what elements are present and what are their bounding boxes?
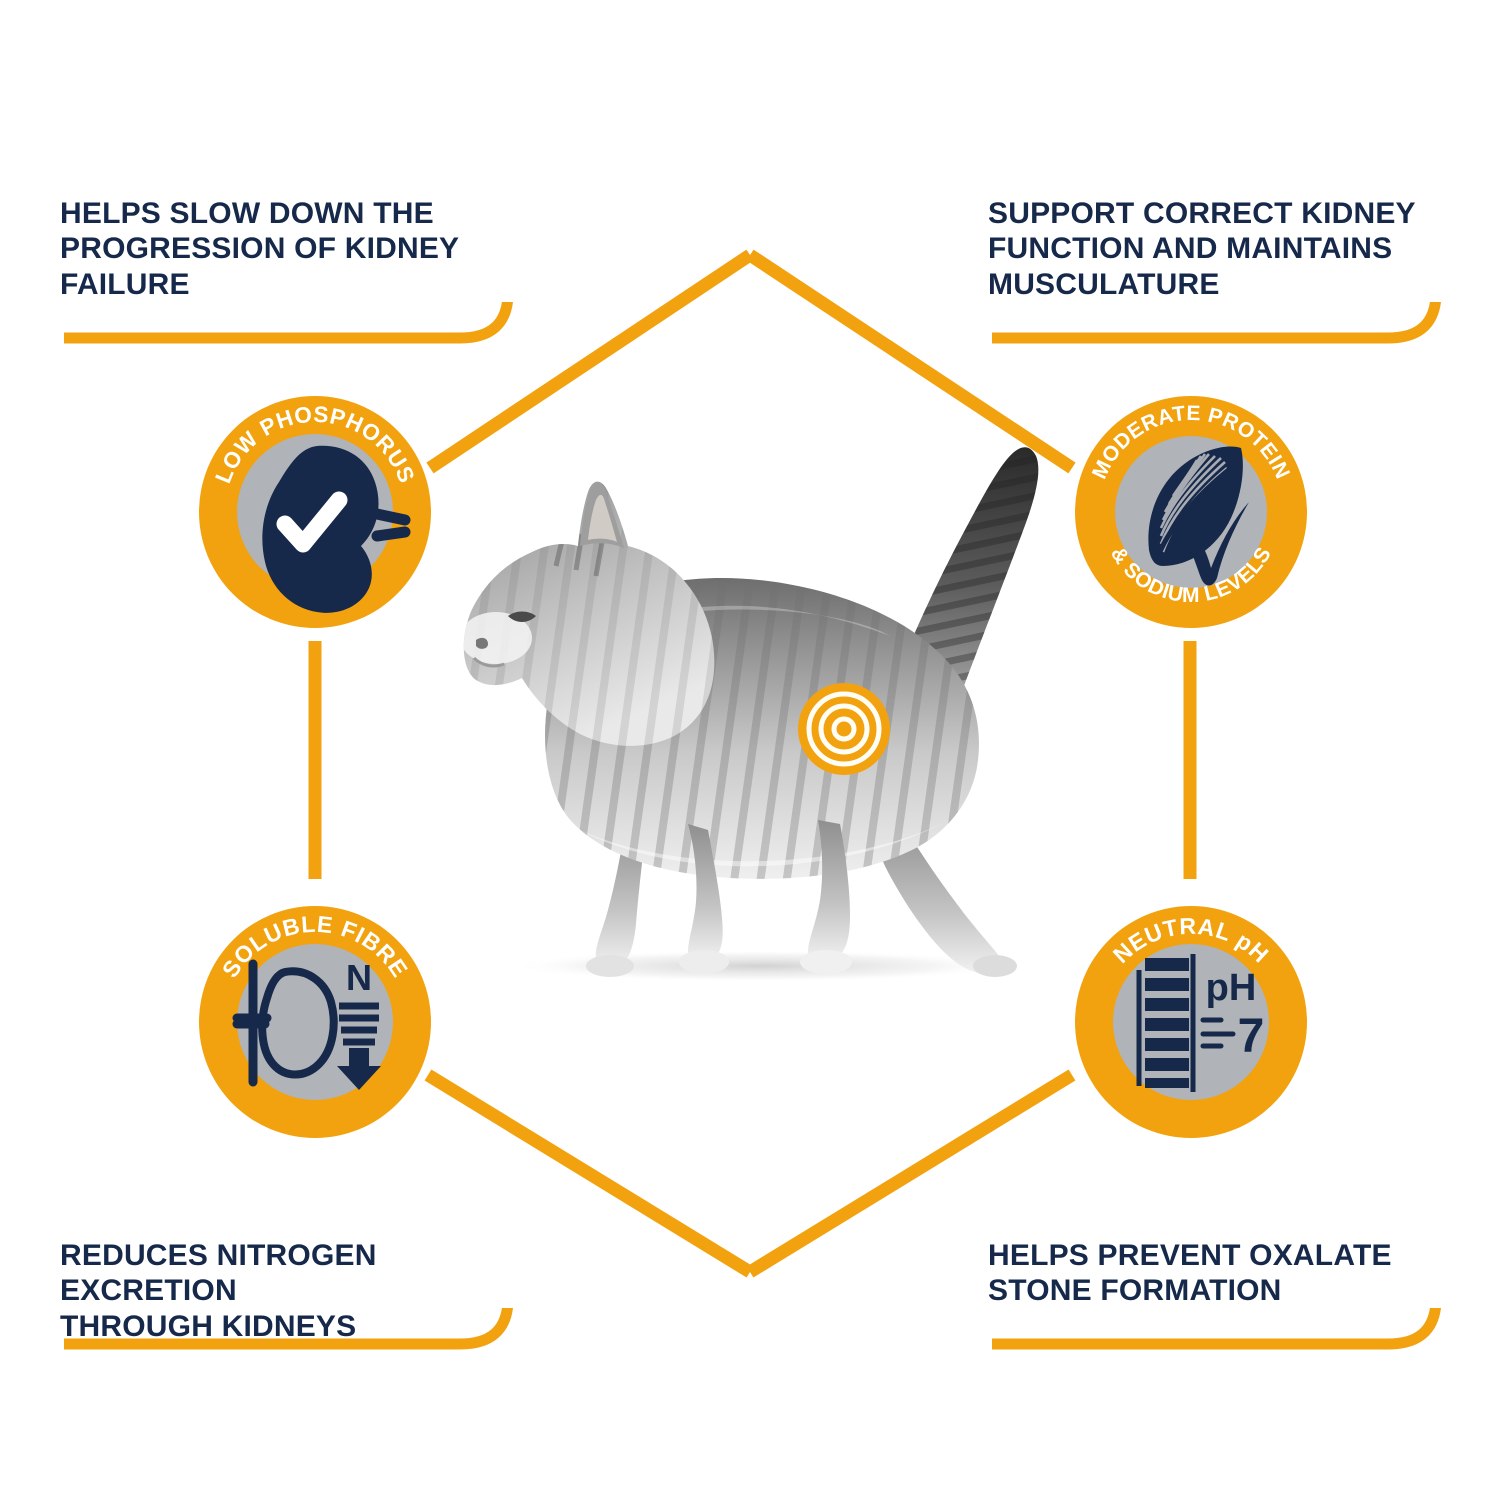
badge-low-phosphorus[interactable]: LOW PHOSPHORUS [199,396,431,628]
callout-bottom-left: REDUCES NITROGEN EXCRETION THROUGH KIDNE… [60,1238,530,1344]
callout-bottom-right: HELPS PREVENT OXALATE STONE FORMATION [988,1238,1458,1309]
callout-top-left-text: HELPS SLOW DOWN THE PROGRESSION OF KIDNE… [60,196,530,302]
ph-value-label: 7 [1238,1010,1265,1063]
cat-shadow [510,950,1010,980]
callout-top-right-rule [988,302,1458,366]
ph-label: pH [1206,967,1257,1009]
cat-head [450,480,730,760]
callout-top-left-rule [60,302,530,366]
target-marker-icon [798,683,890,775]
callout-bottom-left-text: REDUCES NITROGEN EXCRETION THROUGH KIDNE… [60,1238,530,1344]
callout-top-right: SUPPORT CORRECT KIDNEY FUNCTION AND MAIN… [988,196,1458,302]
cat-photo [430,400,1060,980]
callout-top-left: HELPS SLOW DOWN THE PROGRESSION OF KIDNE… [60,196,530,302]
badge-moderate-protein[interactable]: MODERATE PROTEIN & SODIUM LEVELS [1075,396,1307,628]
nitrogen-label: N [346,957,372,998]
callout-bottom-right-text: HELPS PREVENT OXALATE STONE FORMATION [988,1238,1458,1309]
callout-top-right-text: SUPPORT CORRECT KIDNEY FUNCTION AND MAIN… [988,196,1458,302]
callout-bottom-right-rule [988,1308,1458,1372]
badge-neutral-ph[interactable]: pH 7 NEUTRAL pH [1075,906,1307,1138]
badge-soluble-fibre[interactable]: N SOLUBLE FIBRE [199,906,431,1138]
infographic-root: LOW PHOSPHORUS [0,0,1500,1500]
